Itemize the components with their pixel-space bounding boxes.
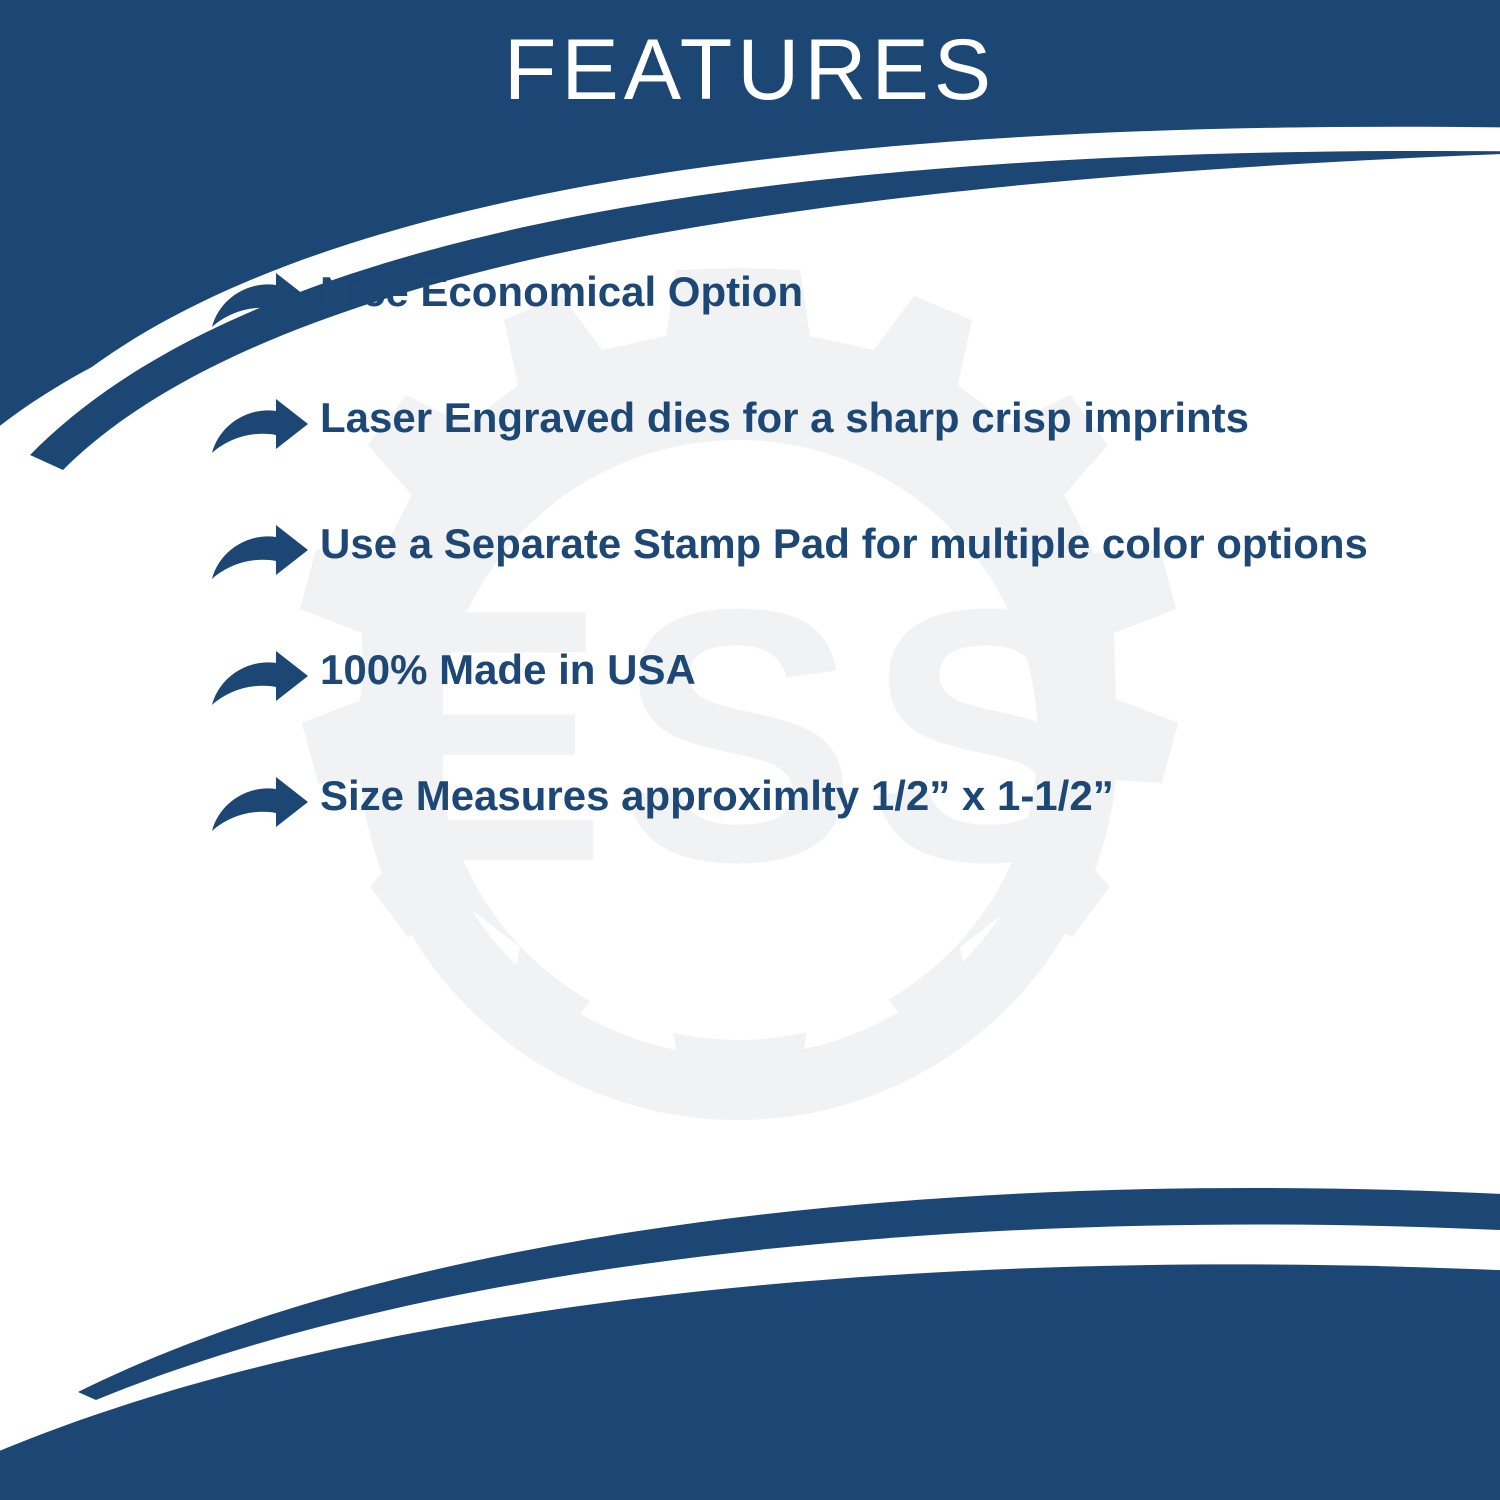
feature-list: Nice Economical Option Laser Engraved di…	[0, 265, 1500, 895]
curved-arrow-right-icon	[210, 265, 320, 333]
list-item: 100% Made in USA	[0, 643, 1500, 711]
curved-arrow-right-icon	[210, 643, 320, 711]
curved-arrow-right-icon	[210, 391, 320, 459]
features-banner: ESS FEATURES Nice Economical Option Lase…	[0, 0, 1500, 1500]
curved-arrow-right-icon	[210, 517, 320, 585]
feature-label: Laser Engraved dies for a sharp crisp im…	[320, 391, 1410, 445]
list-item: Size Measures approximlty 1/2” x 1-1/2”	[0, 769, 1500, 837]
page-title: FEATURES	[504, 27, 996, 113]
feature-label: Size Measures approximlty 1/2” x 1-1/2”	[320, 769, 1410, 823]
curved-arrow-right-icon	[210, 769, 320, 837]
list-item: Use a Separate Stamp Pad for multiple co…	[0, 517, 1500, 585]
list-item: Laser Engraved dies for a sharp crisp im…	[0, 391, 1500, 459]
feature-label: 100% Made in USA	[320, 643, 1410, 697]
list-item: Nice Economical Option	[0, 265, 1500, 333]
feature-label: Use a Separate Stamp Pad for multiple co…	[320, 517, 1410, 571]
header: FEATURES	[0, 0, 1500, 140]
feature-label: Nice Economical Option	[320, 265, 1410, 319]
